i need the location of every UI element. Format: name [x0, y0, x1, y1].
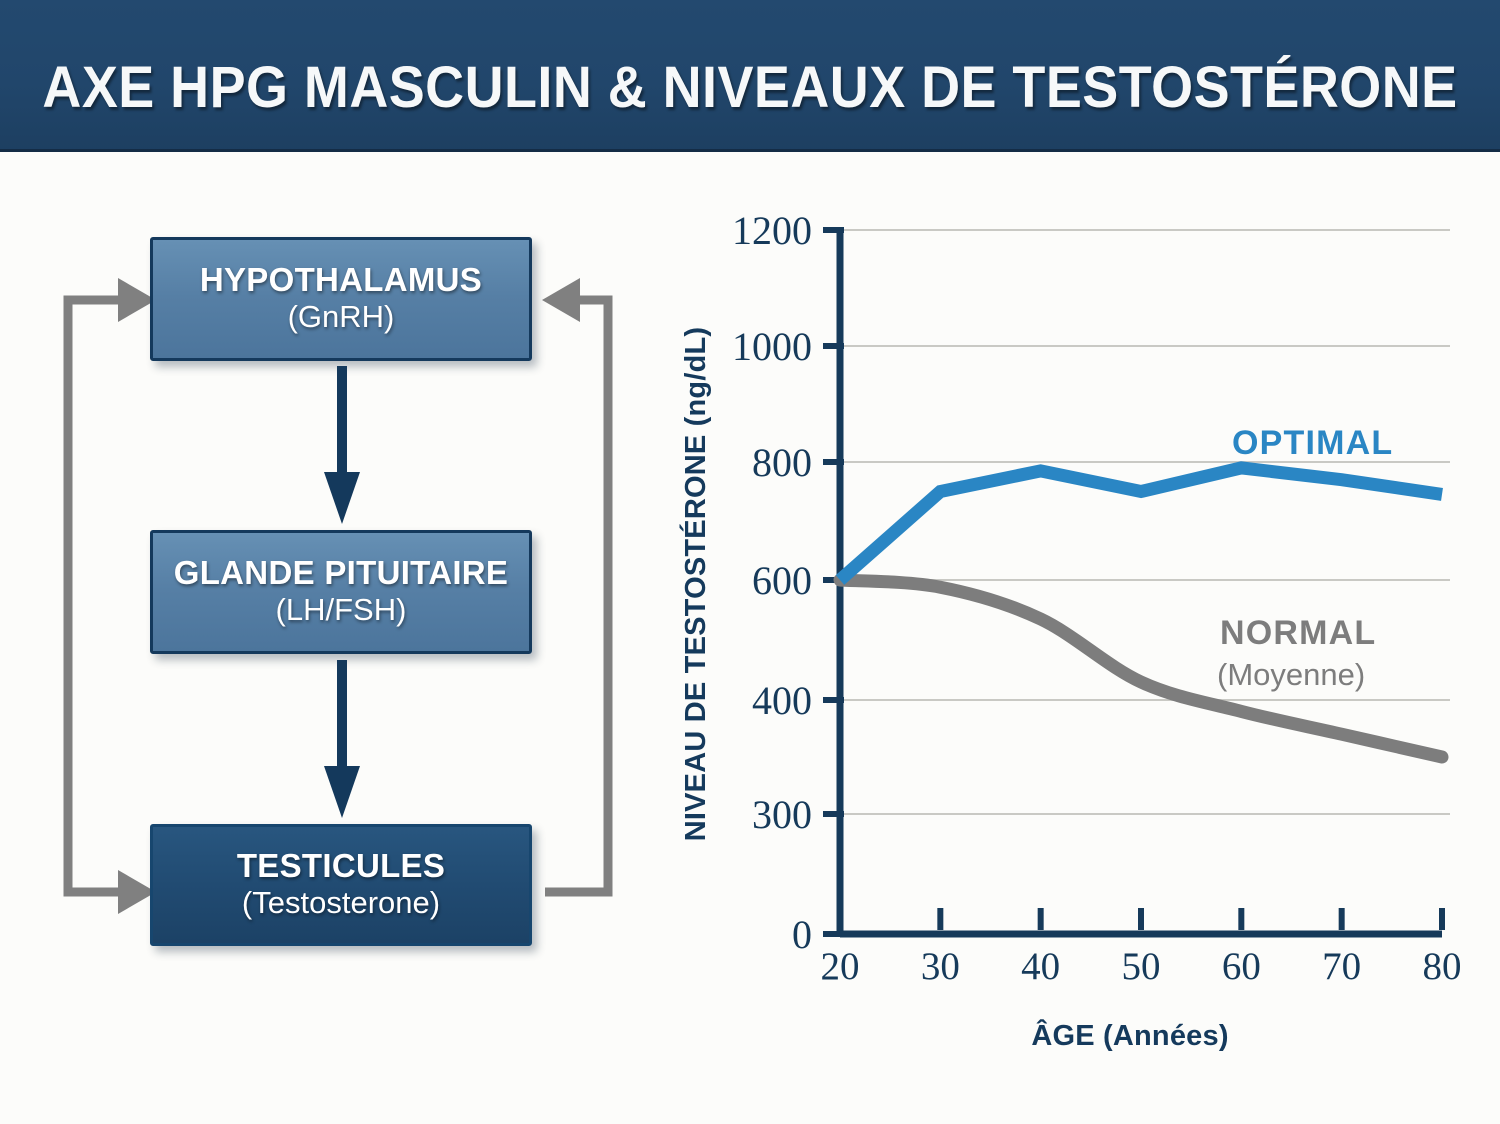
y-axis-title: NIVEAU DE TESTOSTÉRONE (ng/dL) [678, 327, 712, 842]
y-axis-ticks: 030040060080010001200 [732, 208, 844, 957]
y-tick-label: 800 [752, 440, 812, 485]
node-hypothalamus[interactable]: HYPOTHALAMUS (GnRH) [150, 237, 532, 361]
feedback-arrowhead-left [542, 278, 580, 322]
y-tick-label: 1200 [732, 208, 812, 253]
y-tick-label: 0 [792, 912, 812, 957]
y-tick-label: 1000 [732, 324, 812, 369]
series-label-normal: NORMAL [1220, 614, 1376, 652]
x-tick-label: 30 [921, 945, 960, 988]
series-label-normal-sub: (Moyenne) [1217, 657, 1365, 692]
optimal-line-path [840, 468, 1442, 580]
node-testicles[interactable]: TESTICULES (Testosterone) [150, 824, 532, 946]
node-testicles-subtitle: (Testosterone) [242, 886, 440, 921]
node-testicles-title: TESTICULES [237, 849, 445, 884]
node-hypothalamus-subtitle: (GnRH) [288, 300, 395, 335]
y-tick-label: 400 [752, 678, 812, 723]
chart-gridlines [840, 230, 1450, 814]
x-tick-label: 80 [1423, 945, 1462, 988]
node-hypothalamus-title: HYPOTHALAMUS [200, 263, 482, 298]
series-label-optimal: OPTIMAL [1232, 424, 1393, 462]
x-tick-label: 20 [821, 945, 860, 988]
x-axis-title: ÂGE (Années) [1031, 1018, 1228, 1052]
hpg-axis-diagram: HYPOTHALAMUS (GnRH) GLANDE PITUITAIRE (L… [0, 152, 700, 1124]
node-pituitary-title: GLANDE PITUITAIRE [174, 556, 509, 591]
testosterone-line-chart: 030040060080010001200 20304050607080 OPT… [660, 152, 1500, 1124]
x-tick-label: 60 [1222, 945, 1261, 988]
x-tick-label: 50 [1122, 945, 1161, 988]
header-banner: AXE HPG MASCULIN & NIVEAUX DE TESTOSTÉRO… [0, 0, 1500, 152]
x-tick-label: 70 [1322, 945, 1361, 988]
node-pituitary[interactable]: GLANDE PITUITAIRE (LH/FSH) [150, 530, 532, 654]
x-tick-label: 40 [1021, 945, 1060, 988]
chart-svg: 030040060080010001200 20304050607080 OPT… [660, 152, 1500, 1124]
node-pituitary-subtitle: (LH/FSH) [276, 593, 407, 628]
series-optimal-line [840, 468, 1442, 580]
infographic-page: AXE HPG MASCULIN & NIVEAUX DE TESTOSTÉRO… [0, 0, 1500, 1124]
y-tick-label: 300 [752, 792, 812, 837]
x-axis-ticks: 20304050607080 [821, 908, 1462, 988]
y-tick-label: 600 [752, 558, 812, 603]
page-title: AXE HPG MASCULIN & NIVEAUX DE TESTOSTÉRO… [53, 0, 1448, 152]
flow-arrow-pituitary-to-testicles [324, 660, 360, 820]
flow-arrow-hypothalamus-to-pituitary [324, 366, 360, 526]
